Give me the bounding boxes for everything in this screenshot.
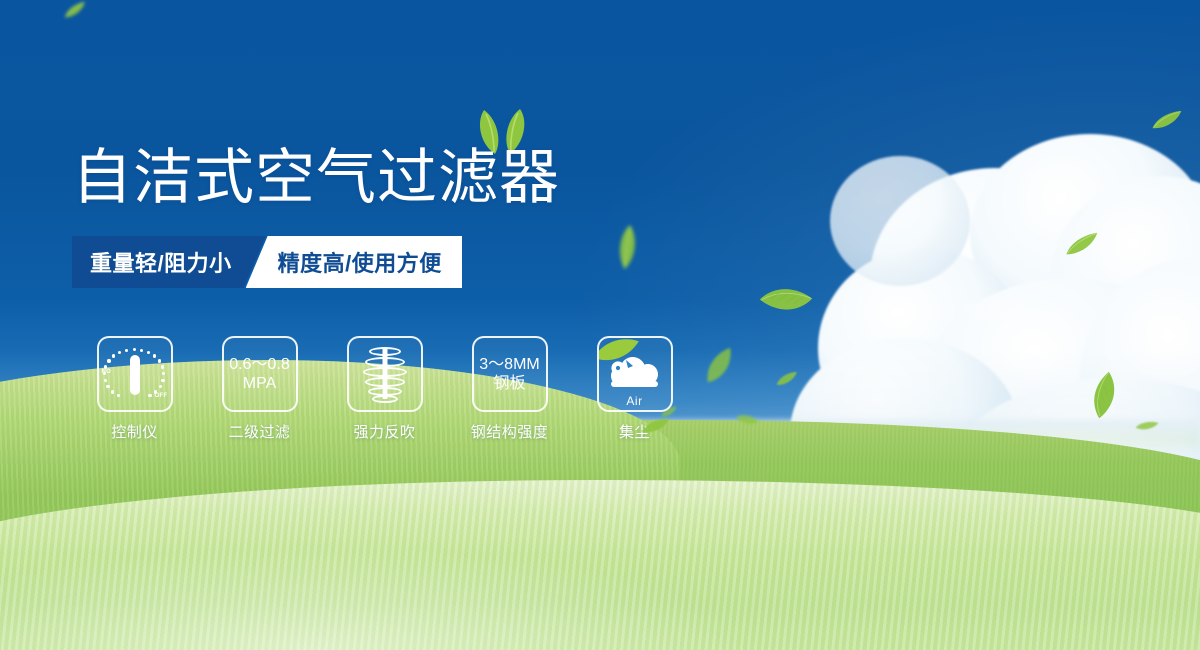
leaf-icon bbox=[774, 370, 800, 388]
leaf-icon bbox=[1148, 106, 1186, 134]
subtitle-bar: 重量轻/阻力小 精度高/使用方便 bbox=[72, 236, 462, 288]
feature-icon-box: 0.6～0.8 MPA bbox=[222, 336, 298, 412]
gauge-icon: NO OFF bbox=[103, 342, 167, 406]
feature-list: NO OFF 控制仪 0.6～0.8 MPA 二级过滤 bbox=[72, 336, 697, 442]
leaf-icon bbox=[613, 223, 641, 272]
feature-text-line2: 钢板 bbox=[493, 374, 525, 393]
feature-item-filtration[interactable]: 0.6～0.8 MPA 二级过滤 bbox=[197, 336, 322, 442]
feature-icon-box: Air bbox=[597, 336, 673, 412]
cloud-air-icon: Air bbox=[606, 351, 664, 395]
feature-item-blowback[interactable]: 强力反吹 bbox=[322, 336, 447, 442]
feature-label: 钢结构强度 bbox=[471, 421, 549, 442]
subtitle-left: 重量轻/阻力小 bbox=[72, 236, 266, 288]
leaf-icon bbox=[696, 345, 742, 386]
feature-item-controller[interactable]: NO OFF 控制仪 bbox=[72, 336, 197, 442]
subtitle-right: 精度高/使用方便 bbox=[246, 236, 462, 288]
product-banner: 自洁式空气过滤器 重量轻/阻力小 精度高/使用方便 bbox=[0, 0, 1200, 650]
feature-item-steel[interactable]: 3～8MM 钢板 钢结构强度 bbox=[447, 336, 572, 442]
leaf-icon bbox=[1061, 228, 1104, 261]
feature-label: 控制仪 bbox=[111, 421, 158, 442]
leaf-icon bbox=[733, 407, 760, 434]
feature-label: 集尘 bbox=[619, 421, 650, 442]
gauge-off-label: OFF bbox=[155, 393, 168, 399]
gauge-on-label: NO bbox=[102, 369, 112, 375]
feature-icon-box bbox=[347, 336, 423, 412]
feature-icon-box: NO OFF bbox=[97, 336, 173, 412]
feature-item-dust[interactable]: Air 集尘 bbox=[572, 336, 697, 442]
leaf-icon bbox=[60, 0, 90, 22]
page-title: 自洁式空气过滤器 bbox=[72, 143, 560, 213]
cloud-air-label: Air bbox=[606, 394, 664, 408]
feature-label: 强力反吹 bbox=[353, 421, 415, 442]
leaf-icon bbox=[757, 272, 816, 325]
leaf-icon bbox=[1078, 369, 1130, 422]
feature-text-line2: MPA bbox=[243, 374, 276, 393]
feature-label: 二级过滤 bbox=[228, 421, 290, 442]
leaf-icon bbox=[1134, 419, 1159, 433]
feature-text-line1: 0.6～0.8 bbox=[229, 355, 290, 374]
feature-icon-box: 3～8MM 钢板 bbox=[472, 336, 548, 412]
feature-text-line1: 3～8MM bbox=[479, 355, 539, 374]
coil-filter-icon bbox=[359, 345, 411, 403]
